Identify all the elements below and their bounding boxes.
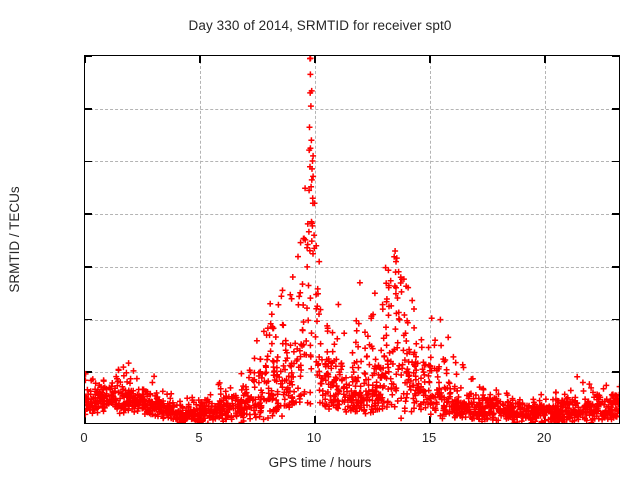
data-point <box>149 380 155 386</box>
data-point <box>437 317 443 323</box>
data-point <box>550 397 556 403</box>
data-point <box>126 360 132 366</box>
data-point <box>330 349 336 355</box>
data-point <box>358 359 364 365</box>
data-point <box>296 293 302 299</box>
data-point <box>254 338 260 344</box>
data-point <box>365 333 371 339</box>
data-point <box>307 342 313 348</box>
data-point <box>257 356 263 362</box>
data-point <box>453 360 459 366</box>
data-point <box>331 341 337 347</box>
data-point <box>450 354 456 360</box>
data-point <box>350 350 356 356</box>
data-point <box>313 334 319 340</box>
data-point <box>362 371 368 377</box>
data-point <box>309 177 315 183</box>
data-point <box>264 357 270 363</box>
data-point <box>304 264 310 270</box>
data-point <box>247 412 253 418</box>
data-point <box>275 354 281 360</box>
data-point <box>131 368 137 374</box>
data-point <box>426 373 432 379</box>
x-tick-label: 5 <box>195 430 202 445</box>
data-point <box>519 418 525 424</box>
data-point <box>310 153 316 159</box>
data-point <box>438 343 444 349</box>
data-point <box>411 325 417 331</box>
data-point <box>307 390 313 396</box>
data-point <box>306 283 312 289</box>
data-point <box>411 306 417 312</box>
data-point <box>116 367 122 373</box>
data-point <box>280 322 286 328</box>
data-point <box>402 405 408 411</box>
data-point <box>295 385 301 391</box>
plot-frame <box>84 55 620 424</box>
data-point <box>404 391 410 397</box>
data-point <box>444 367 450 373</box>
data-point <box>553 389 559 395</box>
data-point <box>256 380 262 386</box>
data-point <box>319 381 325 387</box>
data-point <box>617 384 620 390</box>
data-point <box>291 389 297 395</box>
x-tick-label: 15 <box>422 430 436 445</box>
data-point <box>400 347 406 353</box>
data-point <box>435 374 441 380</box>
data-point <box>409 298 415 304</box>
data-point <box>392 248 398 254</box>
data-point <box>160 388 166 394</box>
data-point <box>308 103 314 109</box>
data-point <box>316 259 322 265</box>
data-point <box>581 388 587 394</box>
x-axis-title: GPS time / hours <box>0 455 640 470</box>
data-point <box>341 330 347 336</box>
data-point <box>309 330 315 336</box>
data-point <box>307 71 313 77</box>
data-point <box>269 311 275 317</box>
data-point <box>290 274 296 280</box>
data-point <box>385 358 391 364</box>
data-point <box>309 238 315 244</box>
data-point <box>431 342 437 348</box>
data-point <box>334 336 340 342</box>
data-point <box>287 292 293 298</box>
data-point <box>269 341 275 347</box>
data-point <box>399 289 405 295</box>
data-point <box>445 334 451 340</box>
data-point <box>128 376 134 382</box>
data-point <box>398 280 404 286</box>
scatter-points <box>85 56 620 424</box>
data-point <box>297 290 303 296</box>
data-point <box>297 399 303 405</box>
data-point <box>151 373 157 379</box>
data-point <box>355 365 361 371</box>
data-point <box>419 344 425 350</box>
data-point <box>280 287 286 293</box>
data-point <box>311 232 317 238</box>
data-point <box>385 398 391 404</box>
data-point <box>282 396 288 402</box>
data-point <box>428 411 434 417</box>
data-point <box>383 324 389 330</box>
data-point <box>403 398 409 404</box>
data-point <box>426 380 432 386</box>
data-point <box>184 395 190 401</box>
y-axis-title: SRMTID / TECUs <box>6 55 24 424</box>
data-point <box>308 137 314 143</box>
data-point <box>278 293 284 299</box>
data-point <box>308 366 314 372</box>
data-point <box>314 318 320 324</box>
x-tick-label: 10 <box>307 430 321 445</box>
chart-canvas: Day 330 of 2014, SRMTID for receiver spt… <box>0 0 640 480</box>
data-point <box>307 56 313 62</box>
data-point <box>273 334 279 340</box>
data-point <box>354 328 360 334</box>
page-title: Day 330 of 2014, SRMTID for receiver spt… <box>0 18 640 33</box>
data-point <box>398 415 404 421</box>
data-point <box>228 385 234 391</box>
data-point <box>268 348 274 354</box>
data-point <box>324 349 330 355</box>
data-point <box>403 338 409 344</box>
data-point <box>454 371 460 377</box>
data-point <box>252 355 258 361</box>
x-tick-label: 0 <box>80 430 87 445</box>
data-point <box>252 384 258 390</box>
data-point <box>392 326 398 332</box>
data-point <box>306 229 312 235</box>
x-tick-label: 20 <box>537 430 551 445</box>
data-point <box>386 312 392 318</box>
data-point <box>397 317 403 323</box>
data-point <box>401 312 407 318</box>
data-point <box>426 345 432 351</box>
data-point <box>335 302 341 308</box>
data-point <box>253 415 259 421</box>
data-point <box>389 392 395 398</box>
data-point <box>428 354 434 360</box>
data-point <box>398 372 404 378</box>
data-point <box>238 371 244 377</box>
data-point <box>298 373 304 379</box>
data-point <box>426 388 432 394</box>
data-point <box>357 280 363 286</box>
data-point <box>300 281 306 287</box>
data-point <box>429 315 435 321</box>
data-point <box>279 413 285 419</box>
data-point <box>275 302 281 308</box>
data-point <box>413 341 419 347</box>
data-point <box>270 358 276 364</box>
data-point <box>310 173 316 179</box>
data-point <box>101 378 107 384</box>
data-point <box>372 290 378 296</box>
data-point <box>362 329 368 335</box>
data-point <box>393 269 399 275</box>
data-point <box>568 388 574 394</box>
data-point <box>543 396 549 402</box>
data-point <box>300 302 306 308</box>
data-point <box>267 301 273 307</box>
data-point <box>538 392 544 398</box>
data-point <box>85 371 89 377</box>
data-point <box>458 385 464 391</box>
data-point <box>364 353 370 359</box>
data-point <box>295 254 301 260</box>
data-point <box>134 376 140 382</box>
data-point <box>307 124 313 130</box>
data-point <box>307 295 313 301</box>
data-point <box>385 386 391 392</box>
data-point <box>300 328 306 334</box>
data-point <box>366 362 372 368</box>
data-point <box>283 341 289 347</box>
data-point <box>310 251 316 257</box>
data-point <box>580 380 586 386</box>
data-point <box>378 347 384 353</box>
data-point <box>289 296 295 302</box>
data-point <box>271 359 277 365</box>
data-point <box>446 379 452 385</box>
data-point <box>373 356 379 362</box>
data-point <box>381 353 387 359</box>
data-point <box>85 377 88 383</box>
data-point <box>436 380 442 386</box>
data-point <box>362 345 368 351</box>
data-point <box>304 305 310 311</box>
data-point <box>384 342 390 348</box>
data-point <box>418 337 424 343</box>
data-point <box>574 374 580 380</box>
data-point <box>318 341 324 347</box>
data-point <box>164 391 170 397</box>
